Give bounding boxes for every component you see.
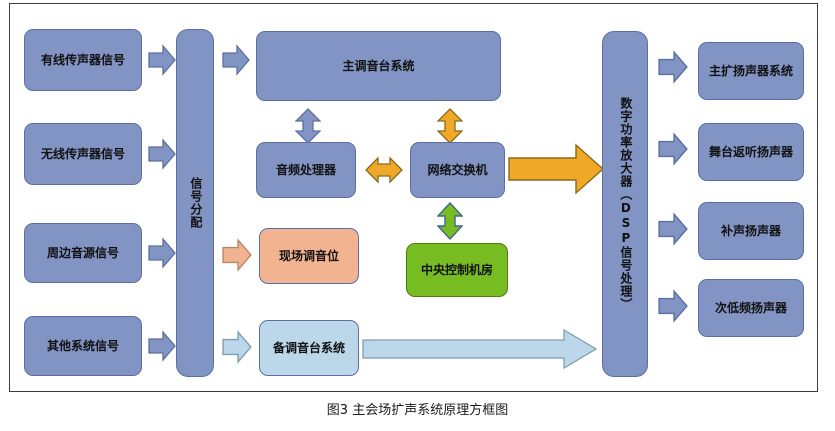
arrow-wireless-mic-to-distributor (148, 138, 176, 170)
arrow-distributor-to-main-console (222, 44, 250, 76)
arrow-audio-processor-network-switch (365, 153, 403, 187)
arrow-backup-console-to-amplifier (362, 328, 598, 370)
figure-canvas: 有线传声器信号 无线传声器信号 周边音源信号 其他系统信号 信号分配 (0, 0, 835, 431)
input-box-wired-mic[interactable]: 有线传声器信号 (24, 29, 142, 91)
arrow-amplifier-to-fill-speaker (658, 212, 688, 246)
output-box-stage-monitor[interactable]: 舞台返听扬声器 (698, 123, 804, 181)
arrow-main-console-network-switch (437, 108, 463, 144)
arrow-distributor-to-backup-console (222, 330, 252, 364)
arrow-amplifier-to-main-speaker (658, 50, 688, 84)
signal-distributor-box[interactable]: 信号分配 (176, 29, 214, 377)
arrow-network-switch-central-control (437, 202, 463, 240)
dsp-power-amplifier-box[interactable]: 数字功率放大器（DSP信号处理） (602, 31, 648, 377)
output-box-subwoofer[interactable]: 次低频扬声器 (698, 279, 804, 337)
arrow-main-console-audio-processor (295, 108, 321, 144)
audio-processor-box[interactable]: 音频处理器 (256, 142, 356, 198)
arrow-network-switch-to-amplifier (508, 142, 604, 196)
input-box-other-system[interactable]: 其他系统信号 (24, 316, 142, 376)
output-box-main-speaker[interactable]: 主扩扬声器系统 (698, 42, 804, 100)
main-console-box[interactable]: 主调音台系统 (256, 31, 501, 101)
network-switch-box[interactable]: 网络交换机 (410, 142, 505, 198)
central-control-room-box[interactable]: 中央控制机房 (406, 243, 508, 297)
arrow-wired-mic-to-distributor (148, 44, 176, 76)
arrow-distributor-to-live-mix (222, 238, 252, 272)
input-box-peripheral-source[interactable]: 周边音源信号 (24, 223, 142, 283)
arrow-peripheral-source-to-distributor (148, 237, 176, 269)
arrow-other-system-to-distributor (148, 330, 176, 362)
figure-caption: 图3 主会场扩声系统原理方框图 (0, 399, 835, 418)
arrow-amplifier-to-subwoofer (658, 289, 688, 323)
diagram-frame: 有线传声器信号 无线传声器信号 周边音源信号 其他系统信号 信号分配 (9, 3, 818, 392)
arrow-amplifier-to-stage-monitor (658, 132, 688, 166)
output-box-fill-speaker[interactable]: 补声扬声器 (698, 202, 804, 260)
live-mix-position-box[interactable]: 现场调音位 (259, 228, 359, 284)
input-box-wireless-mic[interactable]: 无线传声器信号 (24, 123, 142, 185)
backup-console-box[interactable]: 备调音台系统 (259, 320, 359, 376)
